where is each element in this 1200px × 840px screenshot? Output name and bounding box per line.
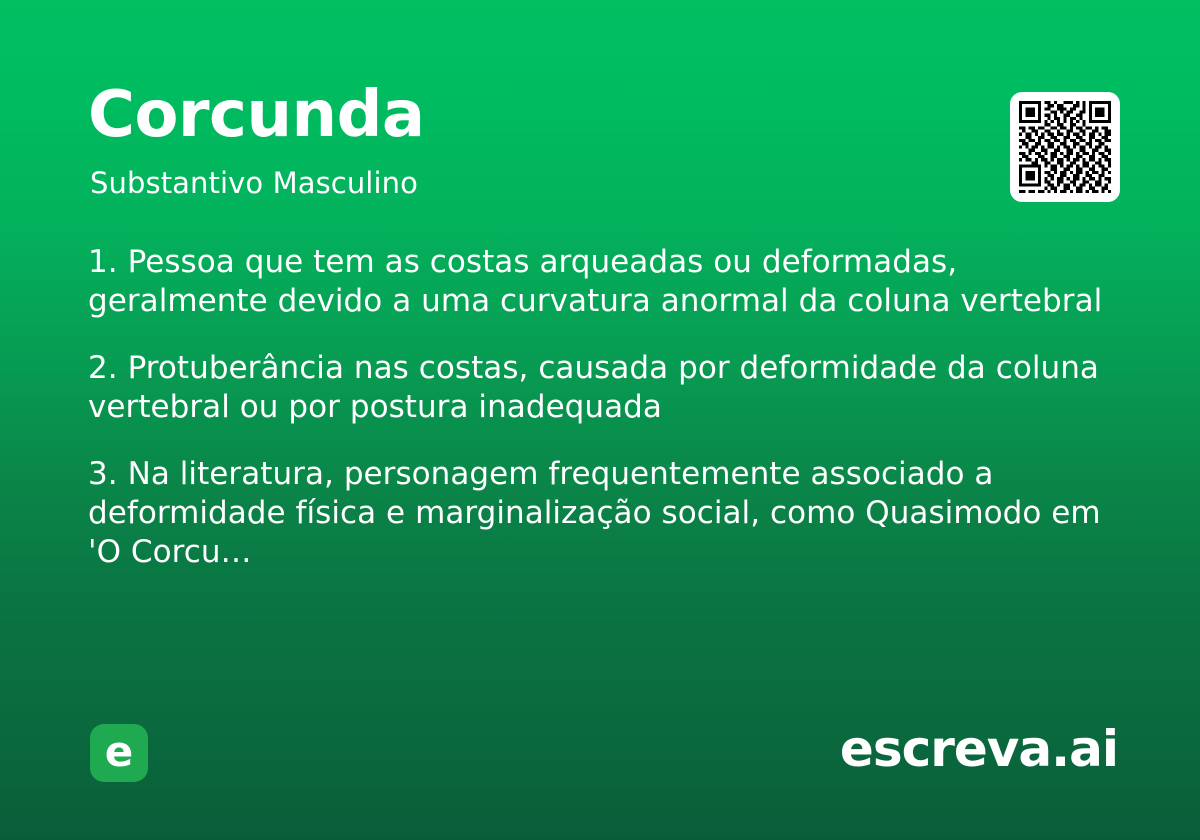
qr-code[interactable] bbox=[1010, 92, 1120, 202]
definition-list: 1. Pessoa que tem as costas arqueadas ou… bbox=[88, 243, 1114, 572]
qr-code-icon bbox=[1019, 101, 1111, 193]
definition-item: 2. Protuberância nas costas, causada por… bbox=[88, 349, 1114, 427]
brand-wordmark: escreva.ai bbox=[840, 722, 1118, 777]
part-of-speech-label: Substantivo Masculino bbox=[90, 166, 418, 201]
page-title: Corcunda bbox=[88, 83, 425, 147]
definition-item: 1. Pessoa que tem as costas arqueadas ou… bbox=[88, 243, 1114, 321]
brand-logo-icon[interactable]: e bbox=[90, 724, 148, 782]
brand-logo-letter: e bbox=[105, 731, 134, 773]
definition-item: 3. Na literatura, personagem frequenteme… bbox=[88, 455, 1114, 572]
dictionary-card: Corcunda Substantivo Masculino 1. Pessoa… bbox=[0, 0, 1200, 840]
